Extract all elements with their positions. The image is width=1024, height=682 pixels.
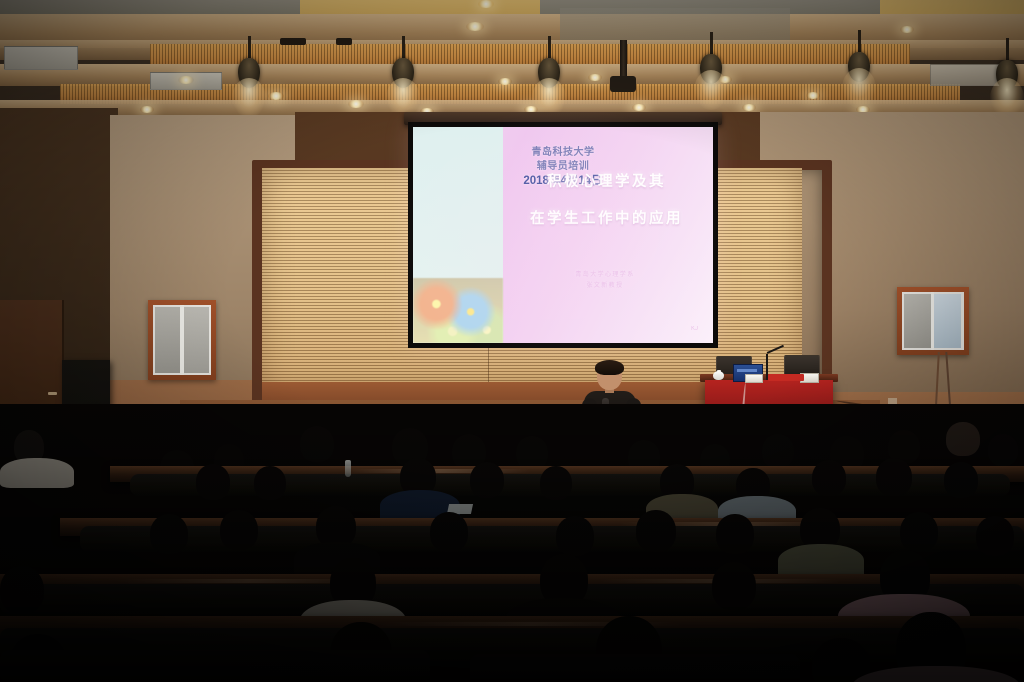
downlight xyxy=(498,78,512,85)
flower-image xyxy=(413,278,503,343)
slide-subtitle-line1: 青岛大学心理学系 xyxy=(515,270,695,281)
hanging-spotlight xyxy=(848,30,876,108)
downlight xyxy=(478,0,494,8)
water-bottle xyxy=(345,460,351,477)
ceiling-slot xyxy=(336,38,352,45)
downlight xyxy=(178,76,194,84)
teapot xyxy=(713,370,724,380)
downlight xyxy=(140,106,154,113)
slide-title-line2: 在学生工作中的应用 xyxy=(506,207,707,228)
downlight xyxy=(900,26,914,33)
slide-corner-mark: KJ xyxy=(691,326,698,332)
name-card xyxy=(745,374,763,383)
downlight xyxy=(268,92,284,100)
table-cloth-accent xyxy=(768,374,804,381)
foreground-chair xyxy=(470,654,800,682)
slide-university: 青岛科技大学 xyxy=(413,146,713,159)
slide-subtitle-line2: 张文新教授 xyxy=(515,281,695,292)
foreground-chair xyxy=(0,650,430,682)
hanging-spotlight xyxy=(700,32,728,110)
hanging-spotlight xyxy=(996,38,1024,118)
slide-subtitle: 青岛大学心理学系 张文新教授 xyxy=(515,270,695,293)
presentation-slide: 青岛科技大学 辅导员培训 2018年4月14日 积极心理学及其 在学生工作中的应… xyxy=(413,127,713,343)
projection-screen: 青岛科技大学 辅导员培训 2018年4月14日 积极心理学及其 在学生工作中的应… xyxy=(408,122,718,348)
hanging-spotlight xyxy=(238,36,266,118)
downlight xyxy=(348,100,364,108)
presenter-hair xyxy=(595,360,624,375)
window-mullion xyxy=(931,292,934,350)
right-wall-window xyxy=(897,287,969,355)
downlight xyxy=(742,104,756,111)
audience-area xyxy=(0,404,1024,682)
ceiling-slot xyxy=(280,38,306,45)
downlight xyxy=(466,22,484,31)
door-handle[interactable] xyxy=(48,392,57,395)
ceiling xyxy=(0,0,1024,118)
slide-title-line1: 积极心理学及其 xyxy=(547,174,666,190)
window-mullion xyxy=(180,305,184,375)
hanging-spotlight xyxy=(538,36,566,118)
left-wall-window xyxy=(148,300,216,380)
slide-title: 积极心理学及其 在学生工作中的应用 xyxy=(506,170,707,228)
ac-vent xyxy=(4,46,78,70)
downlight xyxy=(806,92,820,99)
lecture-hall-photo: 青岛科技大学 辅导员培训 2018年4月14日 积极心理学及其 在学生工作中的应… xyxy=(0,0,1024,682)
hanging-spotlight xyxy=(392,36,420,118)
